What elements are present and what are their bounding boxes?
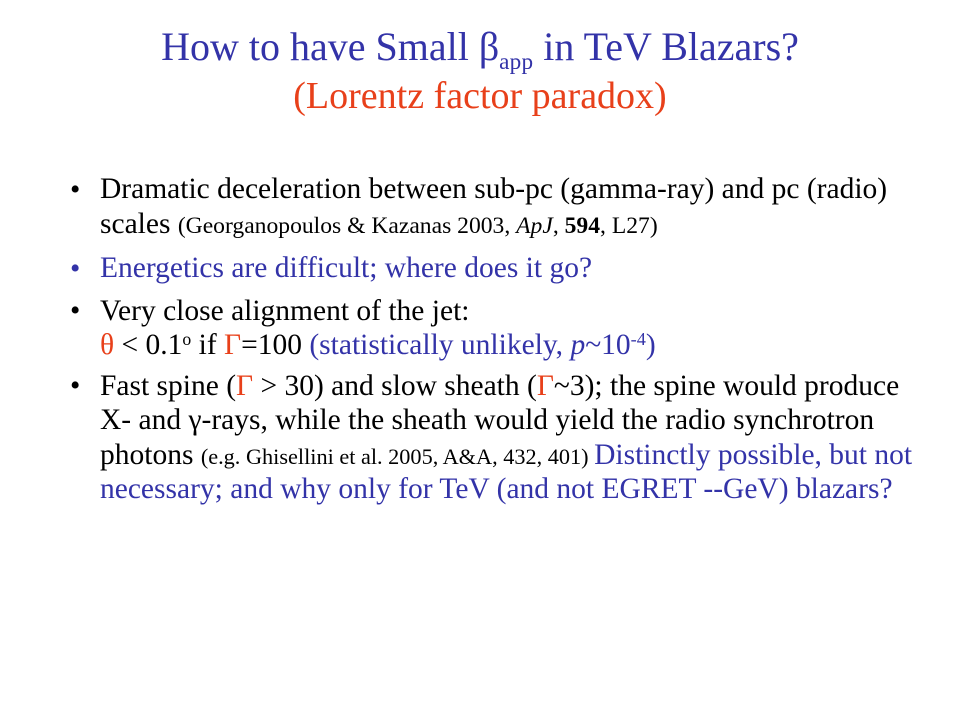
bullet-line-formula: θ < 0.1o if Γ=100 (statistically unlikel… <box>100 328 926 363</box>
title-beta-symbol: β <box>479 24 499 69</box>
gamma-factor-symbol-sheath: Γ <box>537 370 554 402</box>
angle-value: < 0.1 <box>114 329 182 361</box>
probability-symbol: p <box>570 329 585 361</box>
page-title: How to have Small βapp in TeV Blazars? <box>0 26 960 74</box>
citation-volume: 594 <box>565 213 600 239</box>
bullet-line-primary: Very close alignment of the jet: <box>100 294 926 329</box>
page-subtitle: (Lorentz factor paradox) <box>0 76 960 116</box>
title-text-pre: How to have Small <box>161 24 479 69</box>
list-item: • Energetics are difficult; where does i… <box>62 251 926 286</box>
slide-canvas: How to have Small βapp in TeV Blazars? (… <box>0 0 960 720</box>
list-item: • Dramatic deceleration between sub-pc (… <box>62 172 926 241</box>
bullet-marker-icon: • <box>70 294 80 329</box>
citation-text: (e.g. Ghisellini et al. 2005, A&A, 432, … <box>201 444 594 469</box>
bullet-text-mid: > 30) and slow sheath ( <box>253 370 537 402</box>
degree-superscript: o <box>182 329 191 349</box>
title-text-post: in TeV Blazars? <box>533 24 799 69</box>
bullet-marker-icon: • <box>70 173 80 208</box>
bullet-list: • Dramatic deceleration between sub-pc (… <box>62 172 926 513</box>
gamma-factor-value: =100 <box>241 329 309 361</box>
citation-journal: ApJ <box>516 213 553 239</box>
bullet-marker-icon: • <box>70 252 80 287</box>
list-item: • Fast spine (Γ > 30) and slow sheath (Γ… <box>62 369 926 507</box>
probability-close-paren: ) <box>646 329 656 361</box>
probability-value: ~10 <box>585 329 630 361</box>
bullet-text-main: Very close alignment of the jet: <box>100 295 469 327</box>
citation-text: (Georganopoulos & Kazanas 2003, <box>178 213 516 239</box>
theta-symbol: θ <box>100 329 114 361</box>
probability-exponent: -4 <box>631 329 646 349</box>
probability-note: (statistically unlikely, <box>309 329 570 361</box>
citation-sep-1: , <box>553 213 565 239</box>
bullet-text-main: Energetics are difficult; where does it … <box>100 252 592 284</box>
list-item: • Very close alignment of the jet: θ < 0… <box>62 294 926 363</box>
bullet-marker-icon: • <box>70 369 80 404</box>
citation-page: , L27) <box>600 213 658 239</box>
bullet-text-lead: Fast spine ( <box>100 370 236 402</box>
title-beta-subscript: app <box>499 49 533 75</box>
gamma-factor-symbol: Γ <box>224 329 241 361</box>
gamma-factor-symbol-spine: Γ <box>236 370 253 402</box>
conditional-word: if <box>191 329 224 361</box>
slide-title-block: How to have Small βapp in TeV Blazars? (… <box>0 0 960 117</box>
